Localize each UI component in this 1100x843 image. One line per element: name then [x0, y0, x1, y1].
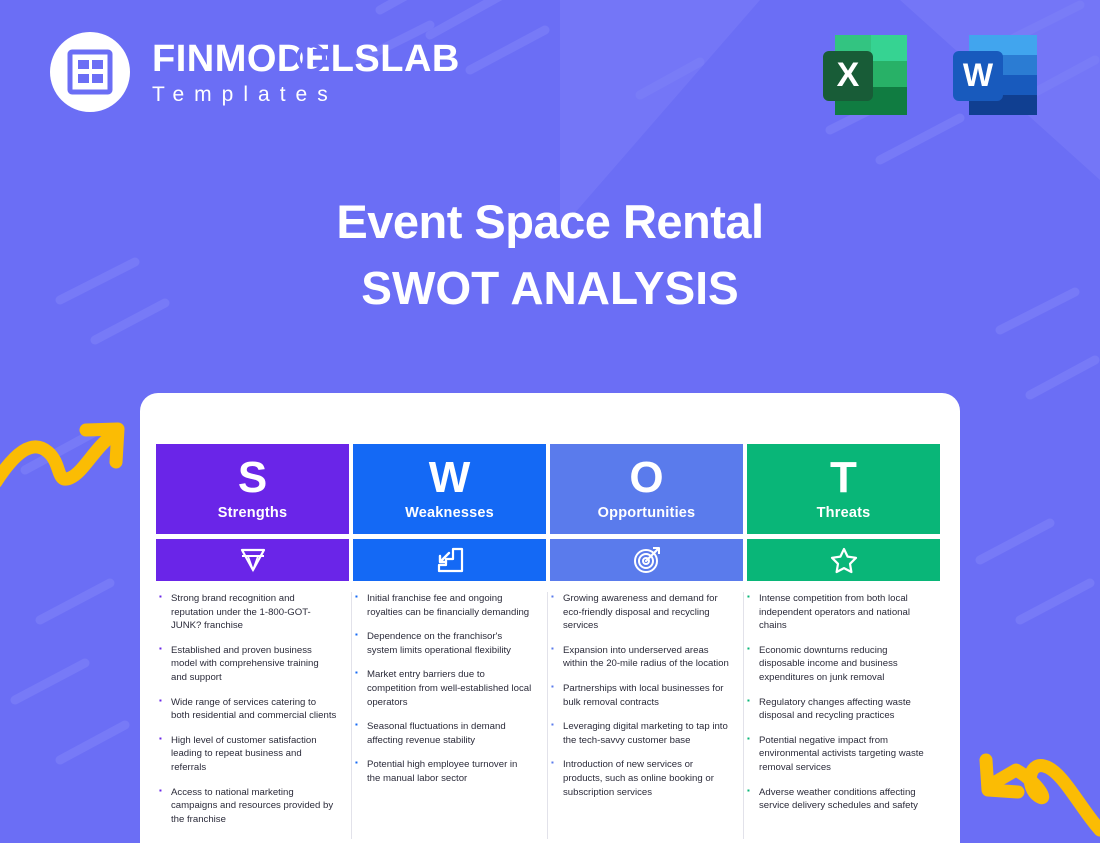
swot-label: Threats: [817, 505, 871, 521]
swot-header-strengths[interactable]: S Strengths: [156, 444, 349, 534]
swot-header-opportunities[interactable]: O Opportunities: [550, 444, 743, 534]
list-item: Leveraging digital marketing to tap into…: [550, 720, 729, 747]
swot-icon-cell-weaknesses: [353, 539, 546, 581]
list-item: Initial franchise fee and ongoing royalt…: [354, 592, 533, 619]
swot-icon-cell-opportunities: [550, 539, 743, 581]
list-item: Potential high employee turnover in the …: [354, 758, 533, 785]
swot-card: S Strengths W Weaknesses O Opportunities…: [140, 393, 960, 843]
list-item: Potential negative impact from environme…: [746, 734, 926, 775]
grid-squares-icon: [67, 49, 113, 95]
swot-bullet-list: Intense competition from both local inde…: [746, 592, 926, 813]
brand-name-text: FINMODELSLAB: [152, 38, 460, 80]
diamond-gem-icon: [239, 547, 267, 573]
swot-letter: T: [830, 457, 857, 499]
swot-bullet-list: Growing awareness and demand for eco-fri…: [550, 592, 729, 799]
swot-grid: S Strengths W Weaknesses O Opportunities…: [156, 444, 940, 839]
title-block: Event Space Rental SWOT ANALYSIS: [0, 196, 1100, 316]
list-item: Intense competition from both local inde…: [746, 592, 926, 633]
swot-icon-cell-strengths: [156, 539, 349, 581]
list-item: Introduction of new services or products…: [550, 758, 729, 799]
list-item: Dependence on the franchisor's system li…: [354, 630, 533, 657]
office-format-icons: X W: [817, 25, 1045, 125]
swot-icon-row: [156, 539, 940, 581]
list-item: Expansion into underserved areas within …: [550, 644, 729, 671]
list-item: Regulatory changes affecting waste dispo…: [746, 696, 926, 723]
svg-text:X: X: [837, 56, 860, 94]
squiggle-arrow-up-right-icon: [0, 404, 128, 490]
list-item: Adverse weather conditions affecting ser…: [746, 786, 926, 813]
swot-header-threats[interactable]: T Threats: [747, 444, 940, 534]
swot-header-weaknesses[interactable]: W Weaknesses: [353, 444, 546, 534]
swot-body-row: Strong brand recognition and reputation …: [156, 592, 940, 839]
list-item: Seasonal fluctuations in demand affectin…: [354, 720, 533, 747]
word-icon[interactable]: W: [945, 25, 1045, 125]
list-item: Access to national marketing campaigns a…: [158, 786, 337, 827]
excel-icon[interactable]: X: [817, 25, 917, 125]
list-item: Market entry barriers due to competition…: [354, 668, 533, 709]
page-header: FINMODELSLAB Templates X: [0, 0, 1100, 150]
swot-bullet-list: Initial franchise fee and ongoing royalt…: [354, 592, 533, 786]
brand-o-stem-icon: [308, 36, 314, 48]
swot-header-row: S Strengths W Weaknesses O Opportunities…: [156, 444, 940, 534]
page-subtitle: SWOT ANALYSIS: [0, 261, 1100, 316]
swot-label: Strengths: [218, 505, 287, 521]
swot-label: Weaknesses: [405, 505, 494, 521]
swot-label: Opportunities: [598, 505, 696, 521]
brand-name: FINMODELSLAB: [152, 40, 460, 78]
star-outline-icon: [830, 547, 858, 574]
target-arrow-icon: [633, 546, 661, 574]
squiggle-arrow-down-left-icon: [972, 752, 1100, 843]
swot-body-opportunities: Growing awareness and demand for eco-fri…: [548, 592, 744, 839]
list-item: Economic downturns reducing disposable i…: [746, 644, 926, 685]
swot-letter: O: [629, 457, 663, 499]
brand-subtitle: Templates: [152, 84, 460, 105]
list-item: Growing awareness and demand for eco-fri…: [550, 592, 729, 633]
swot-bullet-list: Strong brand recognition and reputation …: [158, 592, 337, 827]
list-item: Established and proven business model wi…: [158, 644, 337, 685]
swot-body-strengths: Strong brand recognition and reputation …: [156, 592, 352, 839]
swot-body-weaknesses: Initial franchise fee and ongoing royalt…: [352, 592, 548, 839]
list-item: Strong brand recognition and reputation …: [158, 592, 337, 633]
descending-stairs-arrow-icon: [435, 547, 465, 573]
brand-badge: [50, 32, 130, 112]
list-item: High level of customer satisfaction lead…: [158, 734, 337, 775]
swot-letter: S: [238, 457, 267, 499]
page-title: Event Space Rental: [0, 196, 1100, 249]
swot-body-threats: Intense competition from both local inde…: [744, 592, 940, 839]
swot-letter: W: [429, 457, 471, 499]
brand-logo[interactable]: FINMODELSLAB Templates: [50, 32, 460, 112]
list-item: Wide range of services catering to both …: [158, 696, 337, 723]
swot-icon-cell-threats: [747, 539, 940, 581]
list-item: Partnerships with local businesses for b…: [550, 682, 729, 709]
svg-text:W: W: [963, 57, 994, 93]
